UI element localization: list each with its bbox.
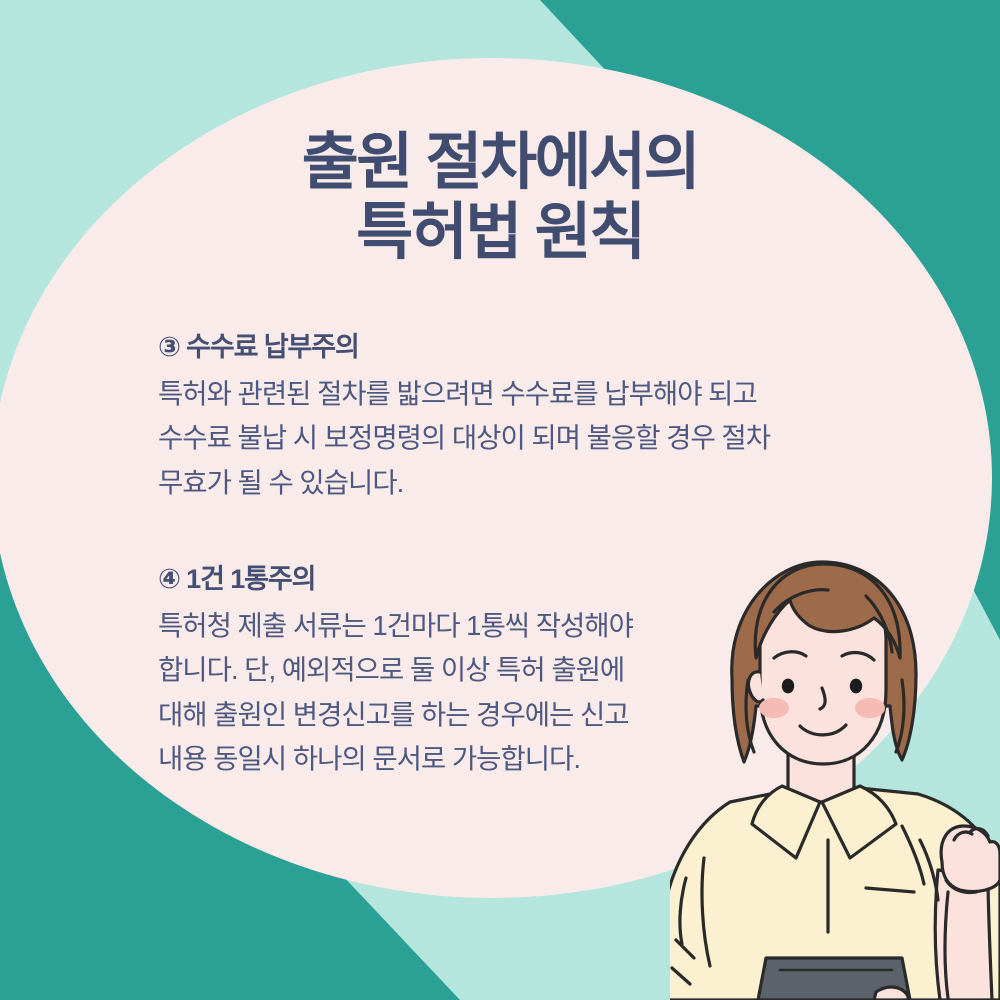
title-line-2: 특허법 원칙 bbox=[0, 198, 1000, 268]
section-1-body-line-2: 수수료 불납 시 보정명령의 대상이 되며 불응할 경우 절차 bbox=[158, 416, 888, 461]
cheek-right bbox=[855, 698, 885, 718]
illustration-woman bbox=[670, 540, 1000, 1000]
section-fee-payment: ③ 수수료 납부주의 특허와 관련된 절차를 밟으려면 수수료를 납부해야 되고… bbox=[158, 330, 888, 505]
eye-right bbox=[850, 679, 862, 694]
title-line-1: 출원 절차에서의 bbox=[0, 128, 1000, 198]
section-1-body-line-3: 무효가 될 수 있습니다. bbox=[158, 461, 888, 506]
fist bbox=[941, 826, 1000, 892]
hand-on-tablet bbox=[874, 987, 908, 1000]
eye-left bbox=[782, 679, 794, 694]
section-1-body: 특허와 관련된 절차를 밟으려면 수수료를 납부해야 되고 수수료 불납 시 보… bbox=[158, 372, 888, 506]
cheek-left bbox=[759, 698, 789, 718]
page-title: 출원 절차에서의 특허법 원칙 bbox=[0, 128, 1000, 268]
section-1-body-line-1: 특허와 관련된 절차를 밟으려면 수수료를 납부해야 되고 bbox=[158, 372, 888, 417]
infographic-card: 출원 절차에서의 특허법 원칙 ③ 수수료 납부주의 특허와 관련된 절차를 밟… bbox=[0, 0, 1000, 1000]
section-1-heading: ③ 수수료 납부주의 bbox=[158, 330, 888, 366]
